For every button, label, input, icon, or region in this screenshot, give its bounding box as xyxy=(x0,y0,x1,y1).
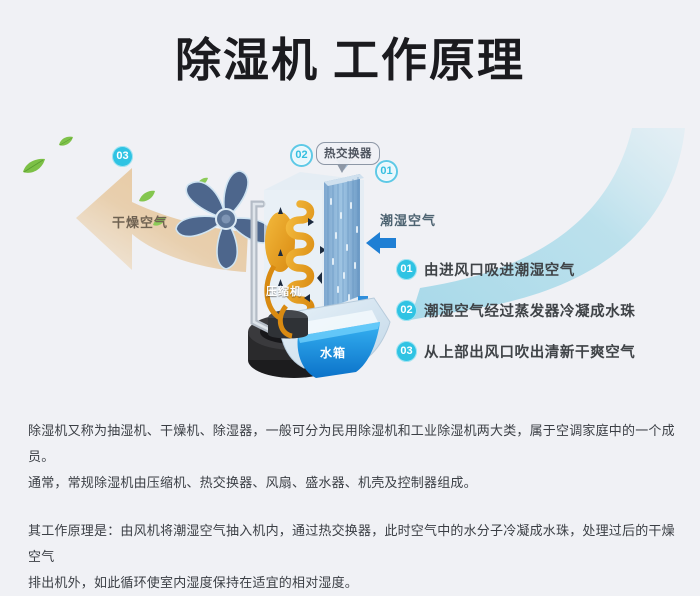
badge-number: 03 xyxy=(112,146,133,167)
label-humid-air: 潮湿空气 xyxy=(380,210,436,229)
body-copy: 除湿机又称为抽湿机、干燥机、除湿器，一般可分为民用除湿机和工业除湿机两大类，属于… xyxy=(28,418,676,596)
inflow-arrow-icon xyxy=(366,232,396,254)
legend-item-01: 01 由进风口吸进潮湿空气 xyxy=(396,258,696,280)
label-compressor: 压缩机 xyxy=(266,283,302,299)
legend-item-label: 由进风口吸进潮湿空气 xyxy=(424,259,575,280)
diagram-badge-03: 03 xyxy=(112,146,133,167)
page-title-part1: 除湿机 xyxy=(175,34,319,86)
callout-label: 热交换器 xyxy=(324,148,372,160)
leaf-icon xyxy=(138,190,156,208)
label-water-tank: 水箱 xyxy=(320,344,346,361)
page-title: 除湿机工作原理 xyxy=(0,34,700,87)
paragraph-2-line-1: 其工作原理是：由风机将潮湿空气抽入机内，通过热交换器，此时空气中的水分子冷凝成水… xyxy=(28,518,676,570)
diagram-badge-02: 02 xyxy=(290,144,313,167)
legend-badge-icon: 01 xyxy=(396,259,417,280)
legend-item-03: 03 从上部出风口吹出清新干爽空气 xyxy=(396,340,696,362)
page-title-part2: 工作原理 xyxy=(333,34,525,86)
legend-item-02: 02 潮湿空气经过蒸发器冷凝成水珠 xyxy=(396,299,696,321)
legend-item-label: 从上部出风口吹出清新干爽空气 xyxy=(424,341,635,362)
infographic-page: 除湿机工作原理 xyxy=(0,0,700,566)
leaf-icon xyxy=(58,134,74,152)
badge-number: 02 xyxy=(290,144,313,167)
callout-heat-exchanger: 热交换器 xyxy=(316,142,380,165)
paragraph-2-line-2: 排出机外，如此循环使室内湿度保持在适宜的相对湿度。 xyxy=(28,570,676,596)
legend-badge-icon: 03 xyxy=(396,341,417,362)
paragraph-1-line-1: 除湿机又称为抽湿机、干燥机、除湿器，一般可分为民用除湿机和工业除湿机两大类，属于… xyxy=(28,418,676,470)
legend-list: 01 由进风口吸进潮湿空气 02 潮湿空气经过蒸发器冷凝成水珠 03 从上部出风… xyxy=(396,258,696,381)
paragraph-1-line-2: 通常，常规除湿机由压缩机、热交换器、风扇、盛水器、机壳及控制器组成。 xyxy=(28,470,676,496)
badge-number: 01 xyxy=(375,160,398,183)
leaf-icon xyxy=(22,158,46,179)
label-dry-air: 干燥空气 xyxy=(112,212,168,231)
legend-item-label: 潮湿空气经过蒸发器冷凝成水珠 xyxy=(424,300,635,321)
diagram-badge-01: 01 xyxy=(375,160,398,183)
legend-badge-icon: 02 xyxy=(396,300,417,321)
